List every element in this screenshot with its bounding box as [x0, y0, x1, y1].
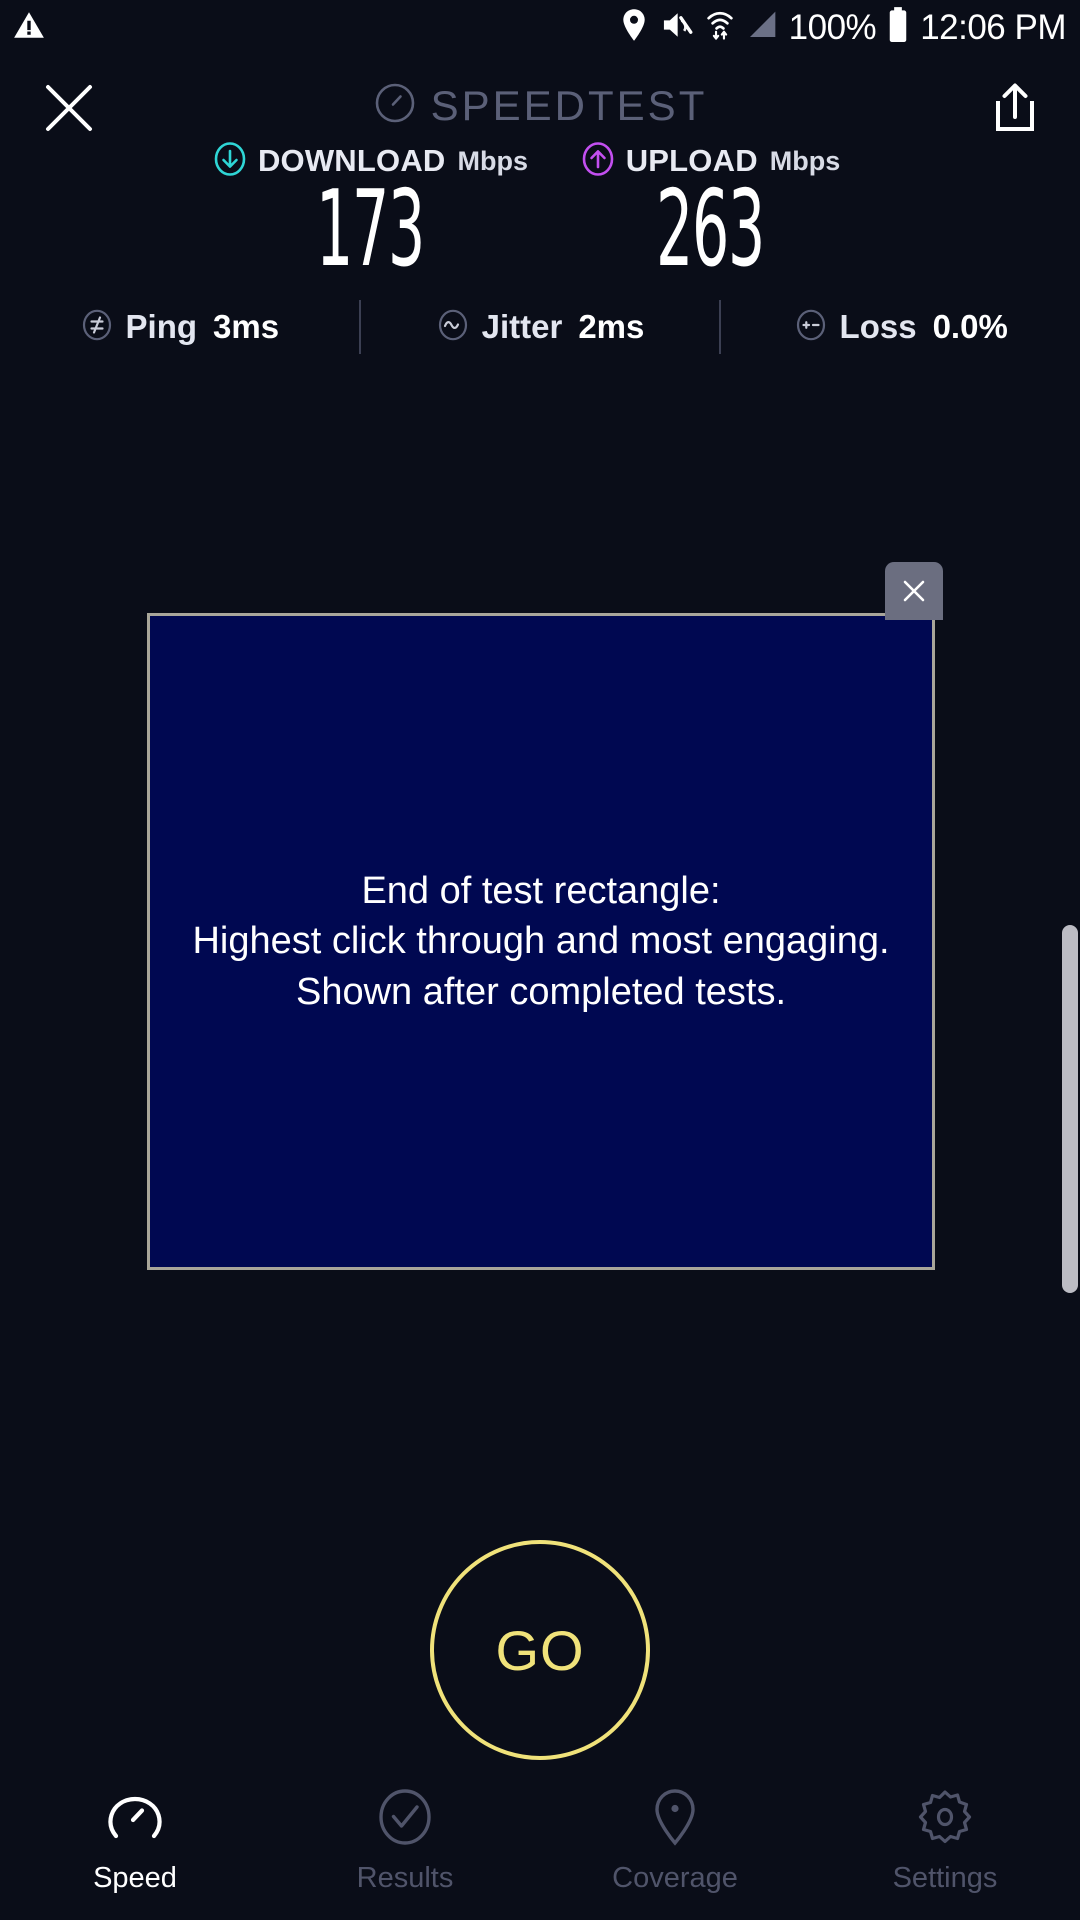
- network-metrics-row: Ping 3ms Jitter 2ms: [0, 300, 1080, 354]
- close-icon: [897, 574, 931, 608]
- cellular-signal-icon: [746, 10, 778, 45]
- jitter-value: 2ms: [578, 308, 644, 346]
- status-bar: 100% 12:06 PM: [0, 0, 1080, 55]
- upload-metric: UPLOAD Mbps 263: [540, 140, 880, 283]
- ping-label: Ping: [126, 308, 198, 346]
- app-title: SPEEDTEST: [431, 82, 708, 130]
- jitter-icon: [436, 308, 470, 347]
- upload-value: 263: [605, 176, 816, 283]
- upload-unit: Mbps: [770, 146, 841, 177]
- volume-mute-icon: [660, 8, 694, 47]
- download-metric: DOWNLOAD Mbps 173: [200, 140, 540, 283]
- battery-full-icon: [887, 7, 909, 48]
- nav-label-results: Results: [357, 1862, 454, 1895]
- location-pin-icon: [619, 8, 649, 47]
- share-icon[interactable]: [984, 77, 1046, 139]
- loss-metric: Loss 0.0%: [721, 308, 1080, 347]
- results-summary: DOWNLOAD Mbps 173 UPLOAD Mbps 263: [0, 140, 1080, 283]
- speedtest-app-screen: 100% 12:06 PM SPEEDTEST: [0, 0, 1080, 1920]
- nav-item-results[interactable]: Results: [270, 1770, 540, 1920]
- nav-label-speed: Speed: [93, 1862, 177, 1895]
- status-bar-left: [12, 8, 46, 47]
- warning-triangle-icon: [12, 8, 46, 47]
- loss-icon: [794, 308, 828, 347]
- wifi-icon: [705, 8, 735, 47]
- vertical-scrollbar[interactable]: [1062, 925, 1078, 1293]
- nav-label-coverage: Coverage: [612, 1862, 738, 1895]
- clock-label: 12:06 PM: [920, 10, 1066, 45]
- ad-line-3: Shown after completed tests.: [192, 967, 889, 1017]
- go-button[interactable]: GO: [430, 1540, 650, 1760]
- ad-line-2: Highest click through and most engaging.: [192, 916, 889, 966]
- jitter-label: Jitter: [482, 308, 563, 346]
- bottom-navigation: Speed Results Coverage: [0, 1770, 1080, 1920]
- loss-label: Loss: [840, 308, 917, 346]
- gear-icon: [914, 1784, 976, 1850]
- arrow-down-circle-icon: [212, 141, 248, 182]
- ping-metric: Ping 3ms: [0, 308, 359, 347]
- status-bar-right: 100% 12:06 PM: [619, 7, 1066, 48]
- download-unit: Mbps: [458, 146, 529, 177]
- ad-line-1: End of test rectangle:: [192, 866, 889, 916]
- speedometer-icon: [373, 81, 417, 130]
- ad-close-button[interactable]: [885, 562, 943, 620]
- download-upload-row: DOWNLOAD Mbps 173 UPLOAD Mbps 263: [0, 140, 1080, 283]
- loss-value: 0.0%: [933, 308, 1008, 346]
- download-value: 173: [265, 176, 476, 283]
- go-button-label: GO: [495, 1618, 584, 1683]
- location-pin-icon: [644, 1784, 706, 1850]
- ping-value: 3ms: [213, 308, 279, 346]
- check-circle-icon: [374, 1784, 436, 1850]
- brand-header: SPEEDTEST: [0, 81, 1080, 130]
- advertisement-banner[interactable]: End of test rectangle: Highest click thr…: [147, 613, 935, 1270]
- nav-item-speed[interactable]: Speed: [0, 1770, 270, 1920]
- nav-label-settings: Settings: [893, 1862, 998, 1895]
- speedometer-icon: [104, 1784, 166, 1850]
- nav-item-coverage[interactable]: Coverage: [540, 1770, 810, 1920]
- ping-icon: [80, 308, 114, 347]
- jitter-metric: Jitter 2ms: [361, 308, 720, 347]
- nav-item-settings[interactable]: Settings: [810, 1770, 1080, 1920]
- battery-percent-label: 100%: [789, 10, 877, 45]
- ad-text: End of test rectangle: Highest click thr…: [182, 866, 899, 1016]
